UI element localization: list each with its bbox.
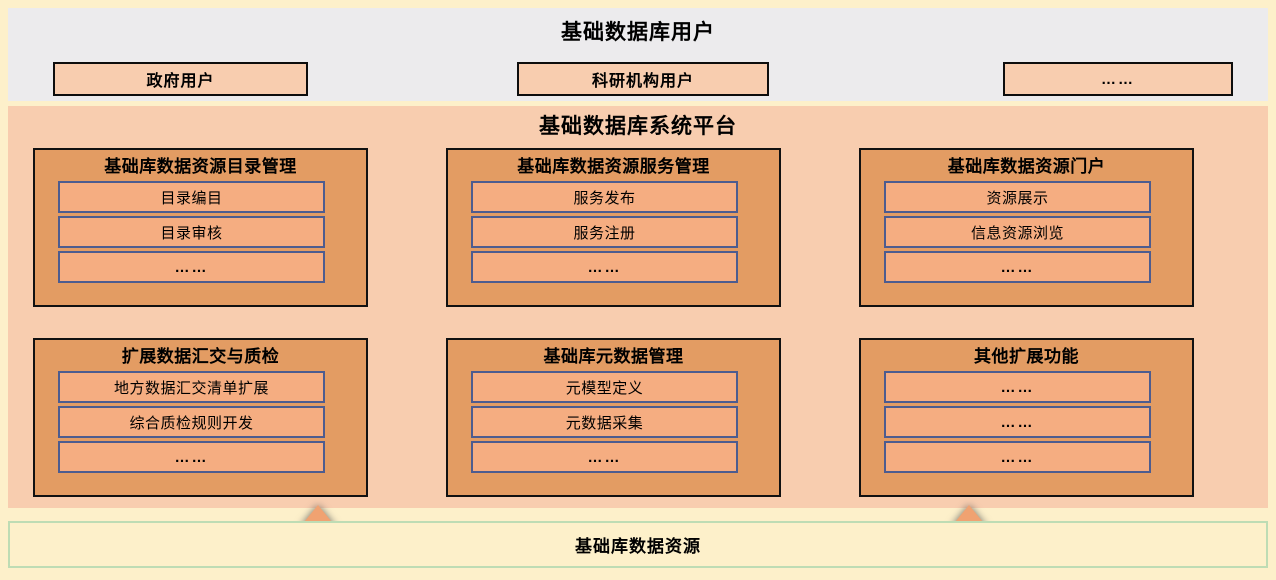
- module-item-list: …… …… ……: [884, 371, 1151, 473]
- module-resource-portal[interactable]: 基础库数据资源门户 资源展示 信息资源浏览 ……: [859, 148, 1194, 307]
- module-catalog-management[interactable]: 基础库数据资源目录管理 目录编目 目录审核 ……: [33, 148, 368, 307]
- module-item-list: 地方数据汇交清单扩展 综合质检规则开发 ……: [58, 371, 325, 473]
- module-item-label: ……: [588, 449, 622, 466]
- module-item-label: ……: [1001, 449, 1035, 466]
- module-item[interactable]: ……: [471, 441, 738, 473]
- architecture-diagram: 基础数据库用户 政府用户 科研机构用户 …… 基础数据库系统平台 基础库数据资源…: [0, 0, 1276, 580]
- module-item[interactable]: 地方数据汇交清单扩展: [58, 371, 325, 403]
- module-item-label: 综合质检规则开发: [129, 412, 253, 433]
- module-item-label: 服务注册: [573, 222, 635, 243]
- module-item-list: 服务发布 服务注册 ……: [471, 181, 738, 283]
- module-item-label: ……: [1001, 259, 1035, 276]
- module-title: 基础库数据资源门户: [861, 150, 1192, 175]
- module-title: 基础库数据资源服务管理: [448, 150, 779, 175]
- module-item[interactable]: 目录审核: [58, 216, 325, 248]
- users-band-title: 基础数据库用户: [8, 8, 1268, 43]
- module-item-label: ……: [175, 449, 209, 466]
- module-item[interactable]: 信息资源浏览: [884, 216, 1151, 248]
- module-title: 扩展数据汇交与质检: [35, 340, 366, 365]
- platform-band-title: 基础数据库系统平台: [8, 106, 1268, 137]
- module-item[interactable]: 元模型定义: [471, 371, 738, 403]
- module-item[interactable]: ……: [884, 251, 1151, 283]
- module-item[interactable]: 服务发布: [471, 181, 738, 213]
- module-title: 其他扩展功能: [861, 340, 1192, 365]
- module-service-management[interactable]: 基础库数据资源服务管理 服务发布 服务注册 ……: [446, 148, 781, 307]
- module-item-list: 元模型定义 元数据采集 ……: [471, 371, 738, 473]
- module-item-label: ……: [175, 259, 209, 276]
- module-item[interactable]: ……: [884, 441, 1151, 473]
- module-item-label: ……: [1001, 379, 1035, 396]
- module-item[interactable]: ……: [58, 441, 325, 473]
- user-box-research-institution[interactable]: 科研机构用户: [517, 62, 769, 96]
- users-band: 基础数据库用户 政府用户 科研机构用户 ……: [8, 8, 1268, 101]
- module-title: 基础库数据资源目录管理: [35, 150, 366, 175]
- module-data-submission-quality[interactable]: 扩展数据汇交与质检 地方数据汇交清单扩展 综合质检规则开发 ……: [33, 338, 368, 497]
- module-other-extensions[interactable]: 其他扩展功能 …… …… ……: [859, 338, 1194, 497]
- data-resources-band-title: 基础库数据资源: [575, 532, 701, 557]
- module-item[interactable]: ……: [471, 251, 738, 283]
- module-item-label: 目录编目: [160, 187, 222, 208]
- module-item-label: 地方数据汇交清单扩展: [114, 377, 269, 398]
- module-item[interactable]: 目录编目: [58, 181, 325, 213]
- module-item[interactable]: 元数据采集: [471, 406, 738, 438]
- user-box-government[interactable]: 政府用户: [53, 62, 308, 96]
- data-resources-band: 基础库数据资源: [8, 521, 1268, 568]
- module-item[interactable]: ……: [58, 251, 325, 283]
- module-item-label: 元数据采集: [566, 412, 644, 433]
- module-item[interactable]: 资源展示: [884, 181, 1151, 213]
- user-box-label: ……: [1101, 71, 1135, 88]
- module-item-label: 资源展示: [986, 187, 1048, 208]
- user-box-label: 科研机构用户: [592, 67, 694, 91]
- user-box-more[interactable]: ……: [1003, 62, 1233, 96]
- platform-module-grid: 基础库数据资源目录管理 目录编目 目录审核 …… 基础库数据资源服务管理 服务发…: [8, 148, 1268, 500]
- module-item-list: 资源展示 信息资源浏览 ……: [884, 181, 1151, 283]
- module-item-label: ……: [1001, 414, 1035, 431]
- module-item[interactable]: ……: [884, 371, 1151, 403]
- module-item-label: ……: [588, 259, 622, 276]
- module-item-label: 信息资源浏览: [971, 222, 1064, 243]
- module-item-label: 目录审核: [160, 222, 222, 243]
- module-item-list: 目录编目 目录审核 ……: [58, 181, 325, 283]
- user-box-label: 政府用户: [146, 67, 214, 91]
- module-item[interactable]: 综合质检规则开发: [58, 406, 325, 438]
- module-metadata-management[interactable]: 基础库元数据管理 元模型定义 元数据采集 ……: [446, 338, 781, 497]
- module-item[interactable]: ……: [884, 406, 1151, 438]
- module-item-label: 元模型定义: [566, 377, 644, 398]
- users-box-row: 政府用户 科研机构用户 ……: [8, 57, 1268, 101]
- platform-band: 基础数据库系统平台 基础库数据资源目录管理 目录编目 目录审核 …… 基础库数据…: [8, 106, 1268, 508]
- module-item[interactable]: 服务注册: [471, 216, 738, 248]
- module-item-label: 服务发布: [573, 187, 635, 208]
- module-title: 基础库元数据管理: [448, 340, 779, 365]
